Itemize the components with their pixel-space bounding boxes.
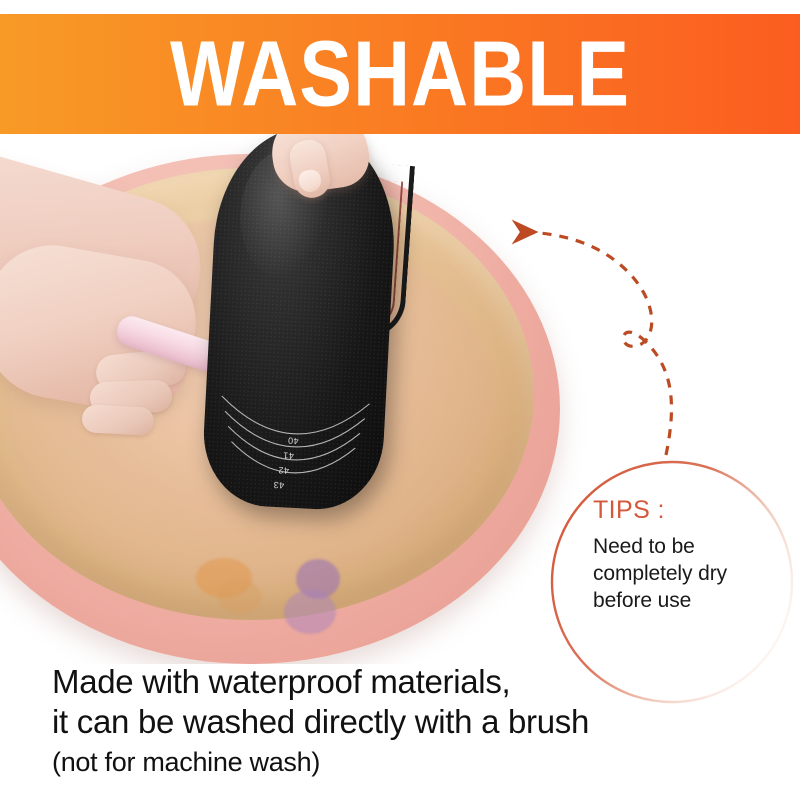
header-banner: WASHABLE xyxy=(0,14,800,134)
insole-trim-guides: 40 41 42 43 xyxy=(206,380,380,509)
product-feature-image: WASHABLE xyxy=(0,0,800,800)
curved-dashed-arrow-icon xyxy=(470,210,700,460)
caption-block: Made with waterproof materials, it can b… xyxy=(52,662,772,780)
caption-note: (not for machine wash) xyxy=(52,744,772,780)
tips-text-block: TIPS : Need to be completely dry before … xyxy=(593,495,789,614)
tips-heading: TIPS : xyxy=(593,495,789,525)
tips-line: Need to be xyxy=(593,533,789,560)
arrow-tail xyxy=(646,342,671,455)
tips-line: before use xyxy=(593,587,789,614)
caption-line: Made with waterproof materials, xyxy=(52,662,772,702)
insole-size-mark: 40 xyxy=(287,436,299,447)
soap-disc xyxy=(218,580,262,614)
insole-size-mark: 43 xyxy=(273,480,285,491)
insole-size-mark: 42 xyxy=(278,465,290,476)
caption-line: it can be washed directly with a brush xyxy=(52,702,772,742)
banner-title: WASHABLE xyxy=(170,28,630,121)
insole-size-mark: 41 xyxy=(283,450,295,461)
finger xyxy=(81,404,154,436)
arrow-curve-with-loop xyxy=(518,232,652,346)
soap-disc xyxy=(284,590,336,634)
tips-line: completely dry xyxy=(593,560,789,587)
